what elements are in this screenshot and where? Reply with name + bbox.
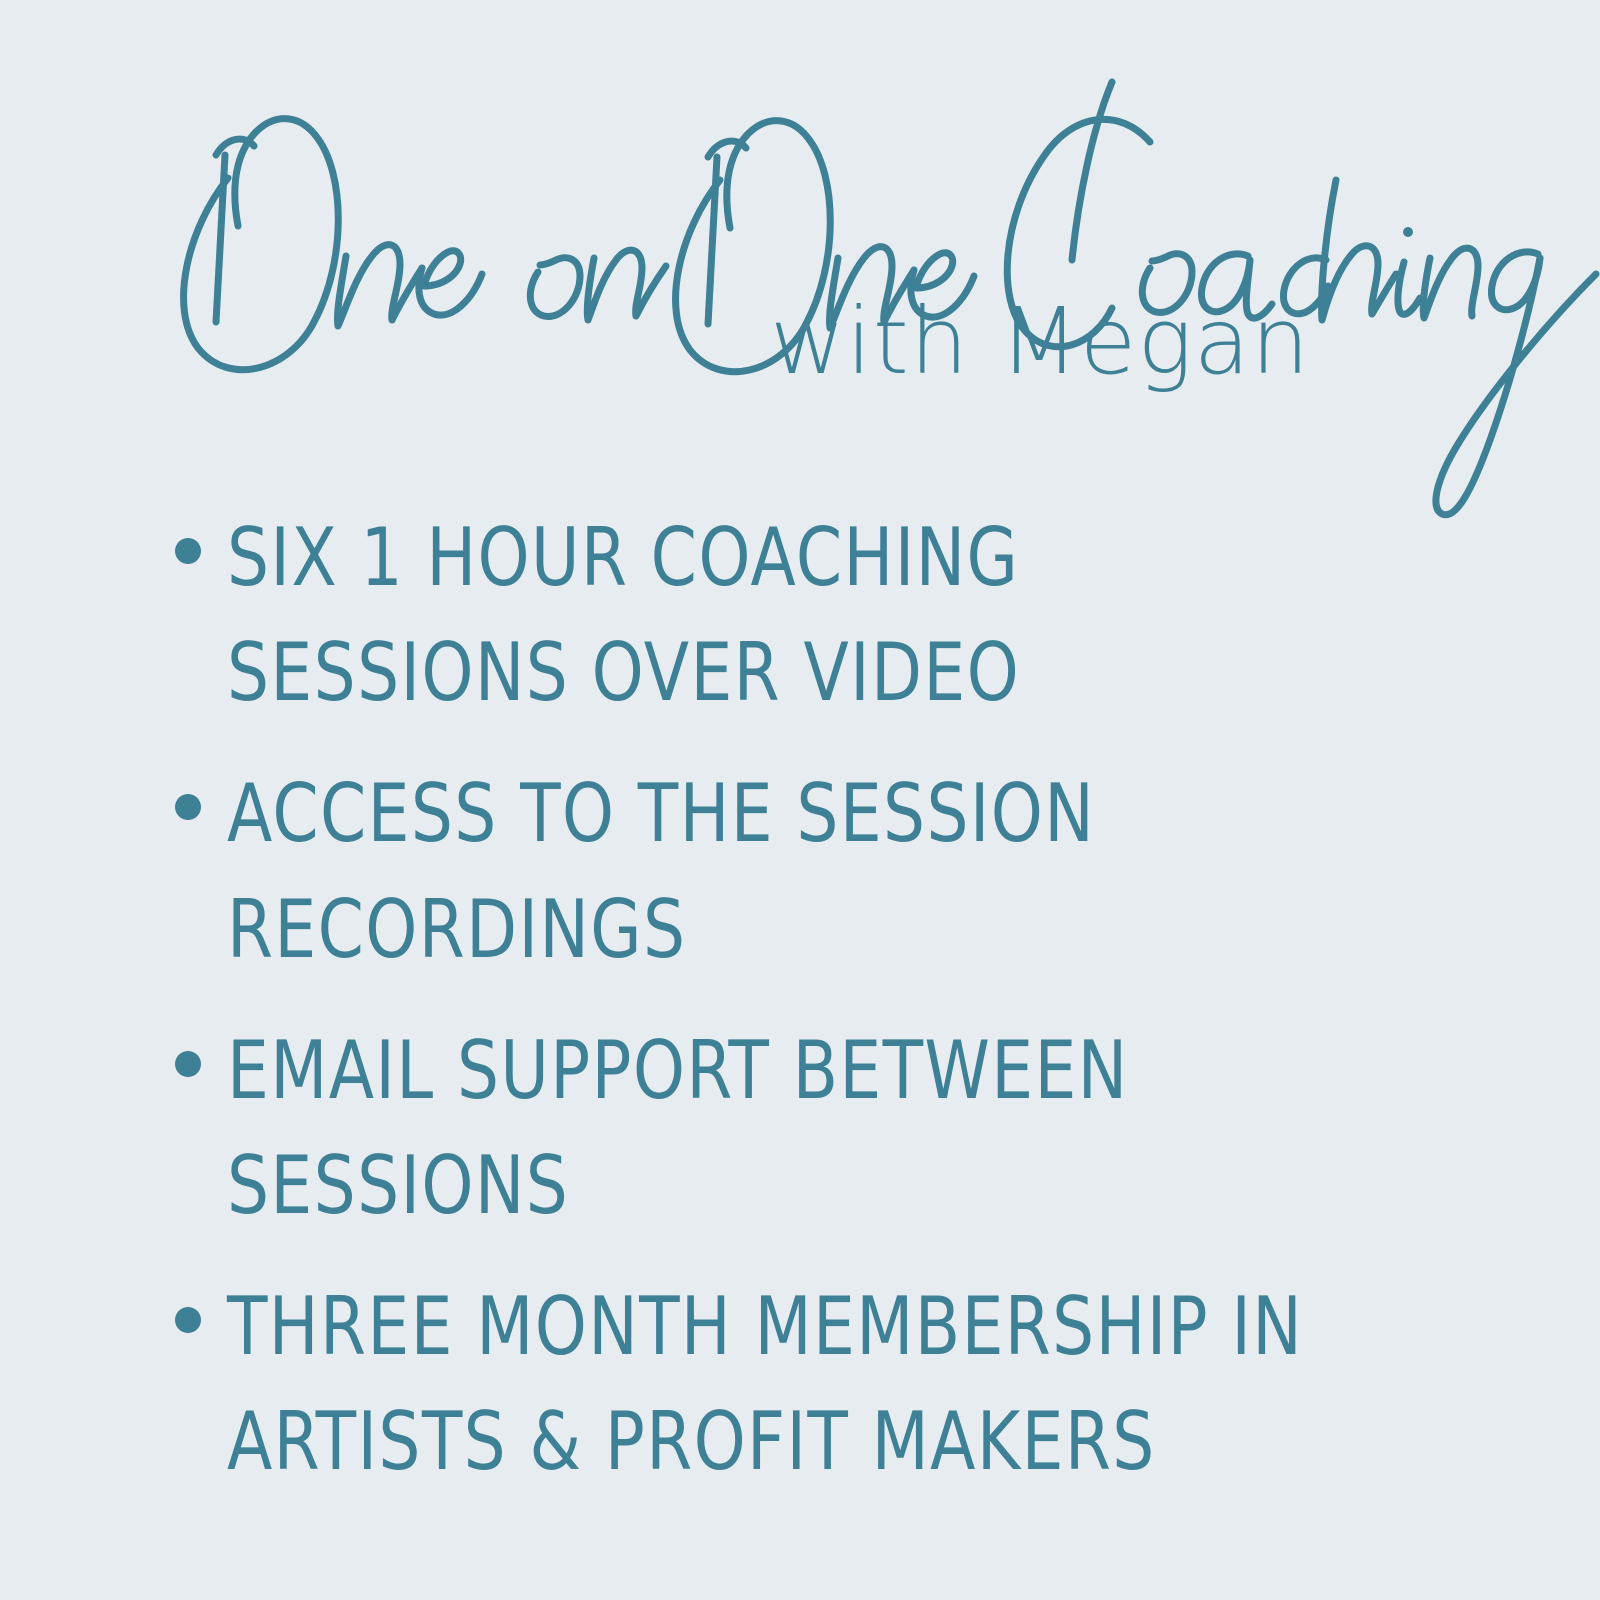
- list-item: THREE MONTH MEMBERSHIP IN ARTISTS & PROF…: [0, 1269, 1600, 1499]
- bullet-dot-icon: [175, 538, 201, 564]
- list-item-label: ACCESS TO THE SESSION RECORDINGS: [227, 756, 1359, 986]
- list-item: EMAIL SUPPORT BETWEEN SESSIONS: [0, 1013, 1600, 1243]
- bullet-dot-icon: [175, 1051, 201, 1077]
- header-block: One on One Coaching: [0, 0, 1600, 440]
- bullet-dot-icon: [175, 794, 201, 820]
- list-item-label: EMAIL SUPPORT BETWEEN SESSIONS: [227, 1013, 1359, 1243]
- feature-list: SIX 1 HOUR COACHING SESSIONS OVER VIDEO …: [0, 500, 1600, 1526]
- coaching-offer-poster: One on One Coaching: [0, 0, 1600, 1600]
- bullet-dot-icon: [175, 1307, 201, 1333]
- list-item-label: THREE MONTH MEMBERSHIP IN ARTISTS & PROF…: [227, 1269, 1359, 1499]
- subtitle: with Megan: [770, 296, 1310, 388]
- list-item-label: SIX 1 HOUR COACHING SESSIONS OVER VIDEO: [227, 500, 1359, 730]
- list-item: ACCESS TO THE SESSION RECORDINGS: [0, 756, 1600, 986]
- list-item: SIX 1 HOUR COACHING SESSIONS OVER VIDEO: [0, 500, 1600, 730]
